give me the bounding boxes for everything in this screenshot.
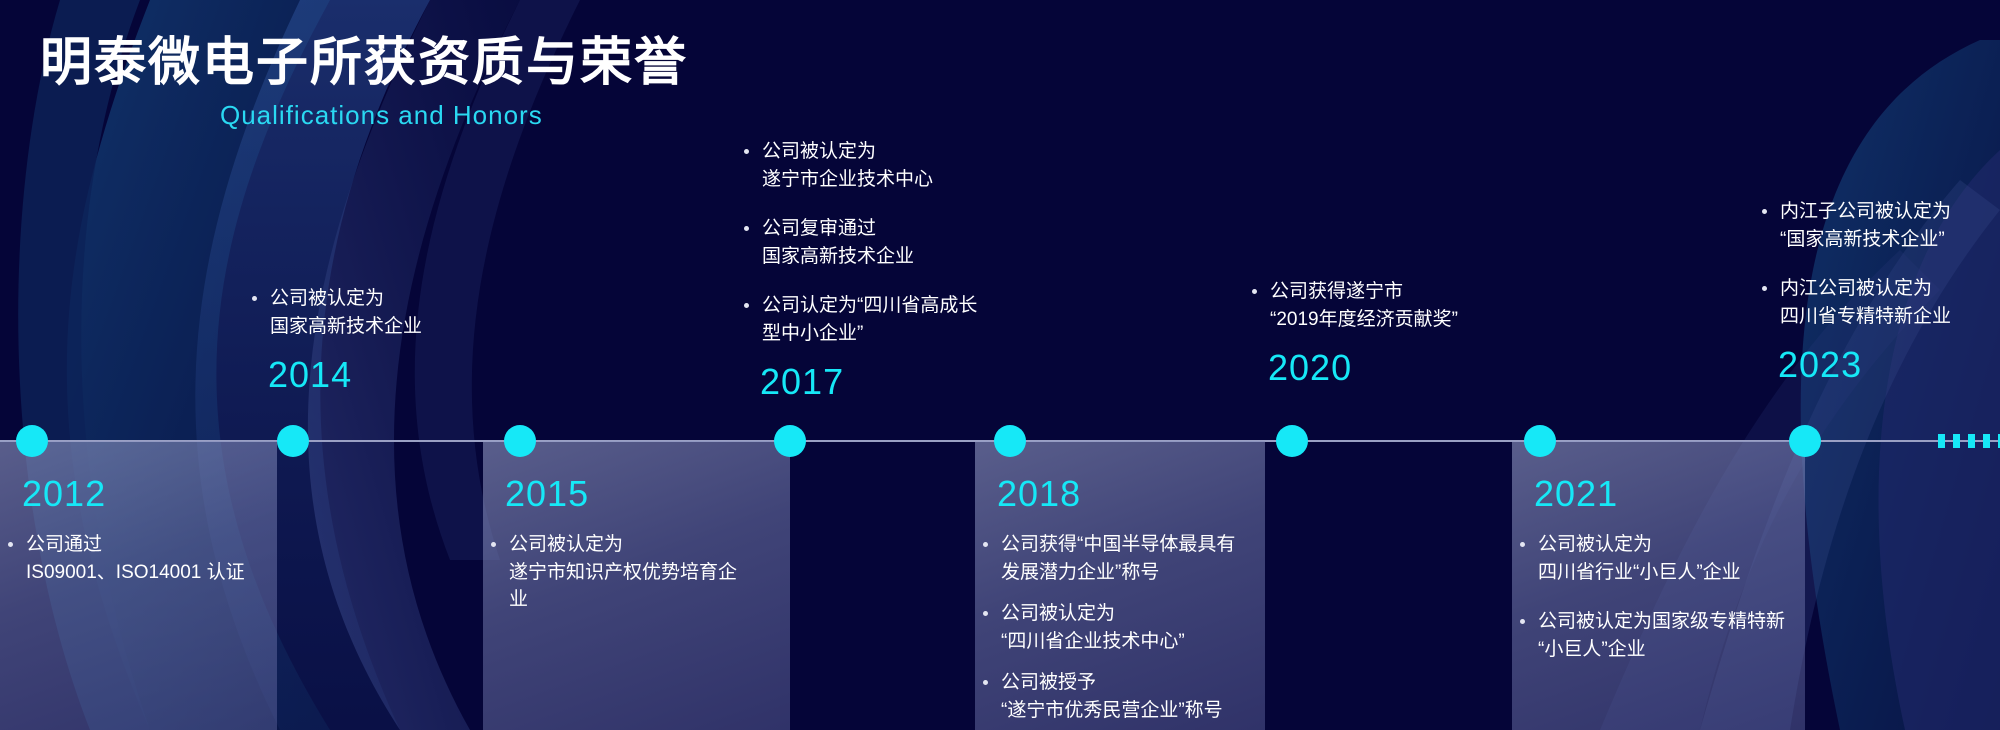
achievement-list-2015: 公司被认定为 遂宁市知识产权优势培育企 业 [487, 531, 784, 614]
year-label-2017: 2017 [760, 361, 977, 403]
achievement-item: 公司认定为“四川省高成长 型中小企业” [740, 292, 977, 347]
achievement-item: 公司获得遂宁市 “2019年度经济贡献奖” [1248, 278, 1458, 333]
slide-canvas: 明泰微电子所获资质与荣誉 Qualifications and Honors 2… [0, 0, 2000, 730]
achievement-item: 内江子公司被认定为 “国家高新技术企业” [1758, 198, 1951, 253]
timeline-node-dot-2018[interactable] [994, 425, 1026, 457]
panel-bullets-2015: 公司被认定为 遂宁市知识产权优势培育企 业 [487, 531, 784, 614]
page-subtitle: Qualifications and Honors [220, 100, 688, 131]
year-label-2014: 2014 [268, 354, 422, 396]
achievement-list-2023: 内江子公司被认定为 “国家高新技术企业”内江公司被认定为 四川省专精特新企业 [1758, 198, 1951, 330]
timeline-continuation-dashes [1938, 434, 2000, 448]
year-label-2020: 2020 [1268, 347, 1458, 389]
achievement-item: 公司被认定为 国家高新技术企业 [248, 285, 422, 340]
timeline-node-dot-2021[interactable] [1524, 425, 1556, 457]
panel-bullets-2021: 公司被认定为 四川省行业“小巨人”企业公司被认定为国家级专精特新 “小巨人”企业 [1516, 531, 1799, 663]
timeline-group-2017: 公司被认定为 遂宁市企业技术中心公司复审通过 国家高新技术企业公司认定为“四川省… [740, 138, 977, 403]
achievement-list-2014: 公司被认定为 国家高新技术企业 [248, 285, 422, 340]
panel-bullets-2018: 公司获得“中国半导体最具有 发展潜力企业”称号公司被认定为 “四川省企业技术中心… [979, 531, 1259, 730]
timeline-node-dot-2023[interactable] [1789, 425, 1821, 457]
timeline-panel-2012: 2012公司通过 IS09001、ISO14001 认证 [0, 441, 277, 730]
timeline-panel-2018: 2018公司获得“中国半导体最具有 发展潜力企业”称号公司被认定为 “四川省企业… [975, 441, 1265, 730]
axis-dash [1968, 434, 1975, 448]
achievement-list-2021: 公司被认定为 四川省行业“小巨人”企业公司被认定为国家级专精特新 “小巨人”企业 [1516, 531, 1799, 663]
achievement-item: 公司被认定为 四川省行业“小巨人”企业 [1516, 531, 1799, 586]
header: 明泰微电子所获资质与荣誉 Qualifications and Honors [40, 34, 688, 131]
timeline-group-2020: 公司获得遂宁市 “2019年度经济贡献奖”2020 [1248, 278, 1458, 389]
achievement-item: 公司获得“中国半导体最具有 发展潜力企业”称号 [979, 531, 1259, 586]
achievement-list-2020: 公司获得遂宁市 “2019年度经济贡献奖” [1248, 278, 1458, 333]
panel-bullets-2012: 公司通过 IS09001、ISO14001 认证 [4, 531, 271, 586]
achievement-item: 公司被认定为国家级专精特新 “小巨人”企业 [1516, 608, 1799, 663]
achievement-list-2018: 公司获得“中国半导体最具有 发展潜力企业”称号公司被认定为 “四川省企业技术中心… [979, 531, 1259, 724]
year-label-2015: 2015 [505, 473, 589, 515]
year-label-2012: 2012 [22, 473, 106, 515]
year-label-2018: 2018 [997, 473, 1081, 515]
achievement-item: 公司被授予 “遂宁市优秀民营企业”称号 [979, 669, 1259, 724]
timeline-node-dot-2014[interactable] [277, 425, 309, 457]
timeline-node-dot-2017[interactable] [774, 425, 806, 457]
achievement-item: 公司复审通过 国家高新技术企业 [740, 215, 977, 270]
axis-dash [1983, 434, 1990, 448]
timeline-panel-2015: 2015公司被认定为 遂宁市知识产权优势培育企 业 [483, 441, 790, 730]
timeline-node-dot-2020[interactable] [1276, 425, 1308, 457]
year-label-2021: 2021 [1534, 473, 1618, 515]
timeline-panel-2021: 2021公司被认定为 四川省行业“小巨人”企业公司被认定为国家级专精特新 “小巨… [1512, 441, 1805, 730]
achievement-item: 内江公司被认定为 四川省专精特新企业 [1758, 275, 1951, 330]
year-label-2023: 2023 [1778, 344, 1951, 386]
timeline-node-dot-2015[interactable] [504, 425, 536, 457]
achievement-item: 公司通过 IS09001、ISO14001 认证 [4, 531, 271, 586]
achievement-list-2012: 公司通过 IS09001、ISO14001 认证 [4, 531, 271, 586]
achievement-item: 公司被认定为 遂宁市企业技术中心 [740, 138, 977, 193]
achievement-item: 公司被认定为 “四川省企业技术中心” [979, 600, 1259, 655]
timeline-group-2023: 内江子公司被认定为 “国家高新技术企业”内江公司被认定为 四川省专精特新企业20… [1758, 198, 1951, 386]
page-title: 明泰微电子所获资质与荣誉 [40, 34, 688, 94]
achievement-list-2017: 公司被认定为 遂宁市企业技术中心公司复审通过 国家高新技术企业公司认定为“四川省… [740, 138, 977, 347]
achievement-item: 公司被认定为 遂宁市知识产权优势培育企 业 [487, 531, 784, 614]
axis-dash [1938, 434, 1945, 448]
timeline-node-dot-2012[interactable] [16, 425, 48, 457]
timeline-group-2014: 公司被认定为 国家高新技术企业2014 [248, 285, 422, 396]
axis-dash [1953, 434, 1960, 448]
